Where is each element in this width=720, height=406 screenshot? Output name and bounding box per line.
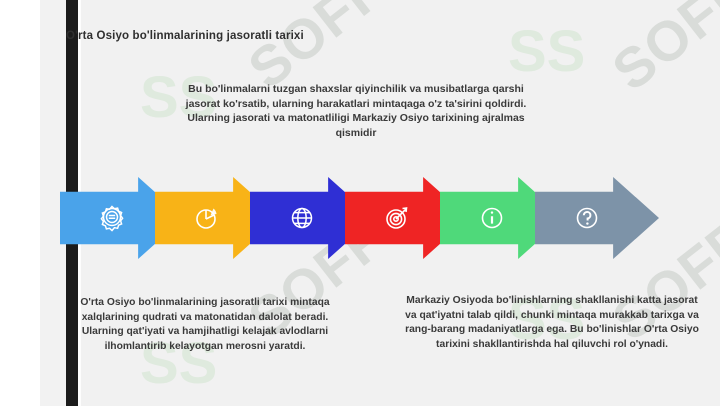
presentation-slide: SS SS SS SS SOFF SOFF SOFF SOFF O'rta Os… (0, 0, 720, 406)
watermark-text: SOFF (600, 0, 720, 103)
intro-paragraph: Bu bo'linmalarni tuzgan shaxslar qiyinch… (170, 82, 542, 140)
bottom-left-paragraph: O'rta Osiyo bo'linmalarining jasoratli t… (60, 296, 350, 354)
chevron-arrow-6[interactable] (535, 177, 659, 259)
pie-chart-icon (187, 198, 227, 238)
bottom-right-paragraph: Markaziy Osiyoda bo'linishlarning shakll… (402, 294, 702, 352)
info-circle-icon (472, 198, 512, 238)
chevron-arrow-row (60, 177, 700, 259)
slide-title: O'rta Osiyo bo'linmalarining jasoratli t… (66, 30, 466, 42)
watermark-logo: SS (508, 18, 585, 85)
question-mark-icon (567, 198, 607, 238)
slide-canvas: SS SS SS SS SOFF SOFF SOFF SOFF O'rta Os… (40, 0, 720, 406)
globe-icon (282, 198, 322, 238)
award-badge-icon (92, 198, 132, 238)
target-icon (377, 198, 417, 238)
